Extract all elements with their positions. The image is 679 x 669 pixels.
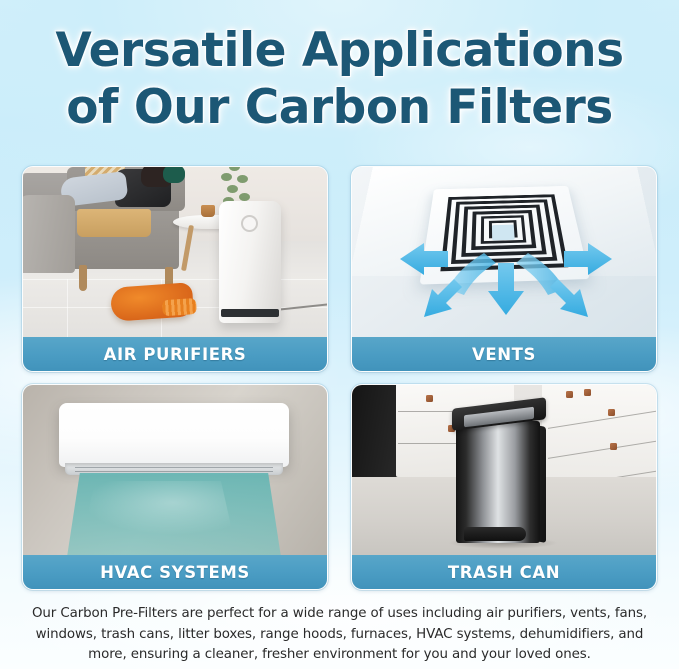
description-paragraph: Our Carbon Pre-Filters are perfect for a… <box>16 604 663 666</box>
throw-blanket <box>77 209 151 237</box>
person-green-accent <box>163 167 185 183</box>
card-label-bar-hvac-systems[interactable]: HVAC SYSTEMS <box>23 555 327 589</box>
card-vents[interactable]: VENTS <box>351 166 657 372</box>
airflow-arrows-icon <box>352 167 656 339</box>
card-air-purifiers[interactable]: AIR PURIFIERS <box>22 166 328 372</box>
cabinet-knob <box>584 389 591 396</box>
floor-tile-line <box>23 279 327 280</box>
air-purifier-unit <box>219 201 281 323</box>
cabinet-knob <box>610 443 617 450</box>
ac-louver-line <box>75 471 273 472</box>
page-title-line-1: Versatile Applications <box>0 22 679 79</box>
ac-unit-body <box>59 403 289 467</box>
card-trash-can[interactable]: TRASH CAN <box>351 384 657 590</box>
ac-louver-line <box>75 467 273 468</box>
coffee-cup <box>201 205 215 217</box>
card-label-text: AIR PURIFIERS <box>104 345 247 364</box>
orange-floor-pillow <box>110 282 194 322</box>
card-label-bar-trash-can[interactable]: TRASH CAN <box>352 555 656 589</box>
trash-can-foot-pedal <box>464 527 526 541</box>
photo-ceiling-vent <box>352 167 656 339</box>
card-label-bar-vents[interactable]: VENTS <box>352 337 656 371</box>
power-button-icon <box>241 215 258 232</box>
photo-kitchen-trash-can <box>352 385 656 557</box>
photo-living-room <box>23 167 327 339</box>
cabinet-knob <box>566 391 573 398</box>
infographic-page: Versatile Applications of Our Carbon Fil… <box>0 0 679 669</box>
card-label-text: TRASH CAN <box>448 563 560 582</box>
sofa-leg <box>79 265 87 291</box>
airflow-highlight <box>83 481 233 535</box>
trash-can-body <box>456 421 540 543</box>
sofa-arm <box>23 195 75 273</box>
card-label-text: HVAC SYSTEMS <box>100 563 250 582</box>
cabinet-knob <box>608 409 615 416</box>
application-card-grid: AIR PURIFIERS <box>22 166 657 590</box>
page-title-line-2: of Our Carbon Filters <box>0 79 679 136</box>
photo-hvac-unit <box>23 385 327 557</box>
purifier-base <box>221 309 279 317</box>
cabinet-knob <box>426 395 433 402</box>
card-label-bar-air-purifiers[interactable]: AIR PURIFIERS <box>23 337 327 371</box>
page-title: Versatile Applications of Our Carbon Fil… <box>0 22 679 136</box>
card-label-text: VENTS <box>472 345 536 364</box>
card-hvac-systems[interactable]: HVAC SYSTEMS <box>22 384 328 590</box>
floor-tile-line <box>67 279 68 339</box>
